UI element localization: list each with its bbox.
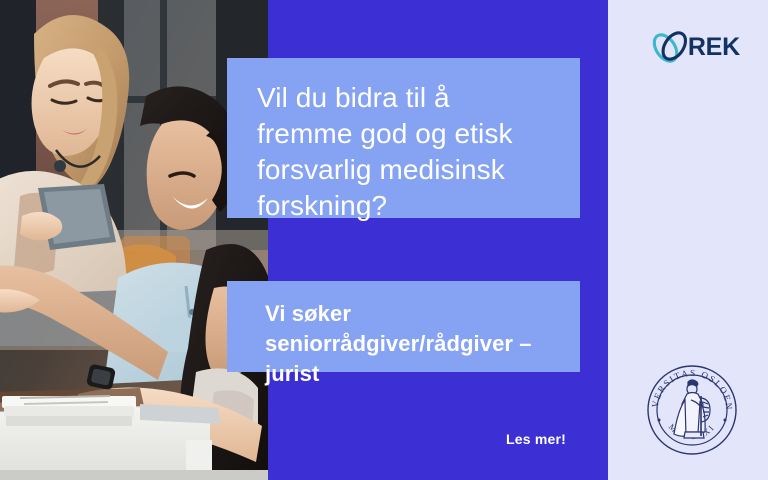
job-title-text: Vi søker seniorrådgiver/rådgiver – juris…	[265, 299, 560, 389]
headline-box: Vil du bidra til å fremme god og etisk f…	[227, 58, 580, 218]
rek-logo[interactable]: REK	[648, 26, 740, 68]
job-title-box: Vi søker seniorrådgiver/rådgiver – juris…	[227, 281, 580, 372]
headline-text: Vil du bidra til å fremme god og etisk f…	[257, 80, 552, 224]
uio-seal: UNIVERSITAS OSLOENSIS MDCCCXI	[644, 362, 740, 458]
rek-interlocking-ellipses-icon	[648, 26, 691, 68]
recruitment-banner: Vil du bidra til å fremme god og etisk f…	[0, 0, 768, 480]
uio-seal-icon: UNIVERSITAS OSLOENSIS MDCCCXI	[644, 362, 740, 458]
read-more-link[interactable]: Les mer!	[506, 431, 566, 447]
rek-wordmark: REK	[688, 33, 740, 62]
uio-seal-figure	[674, 380, 710, 438]
